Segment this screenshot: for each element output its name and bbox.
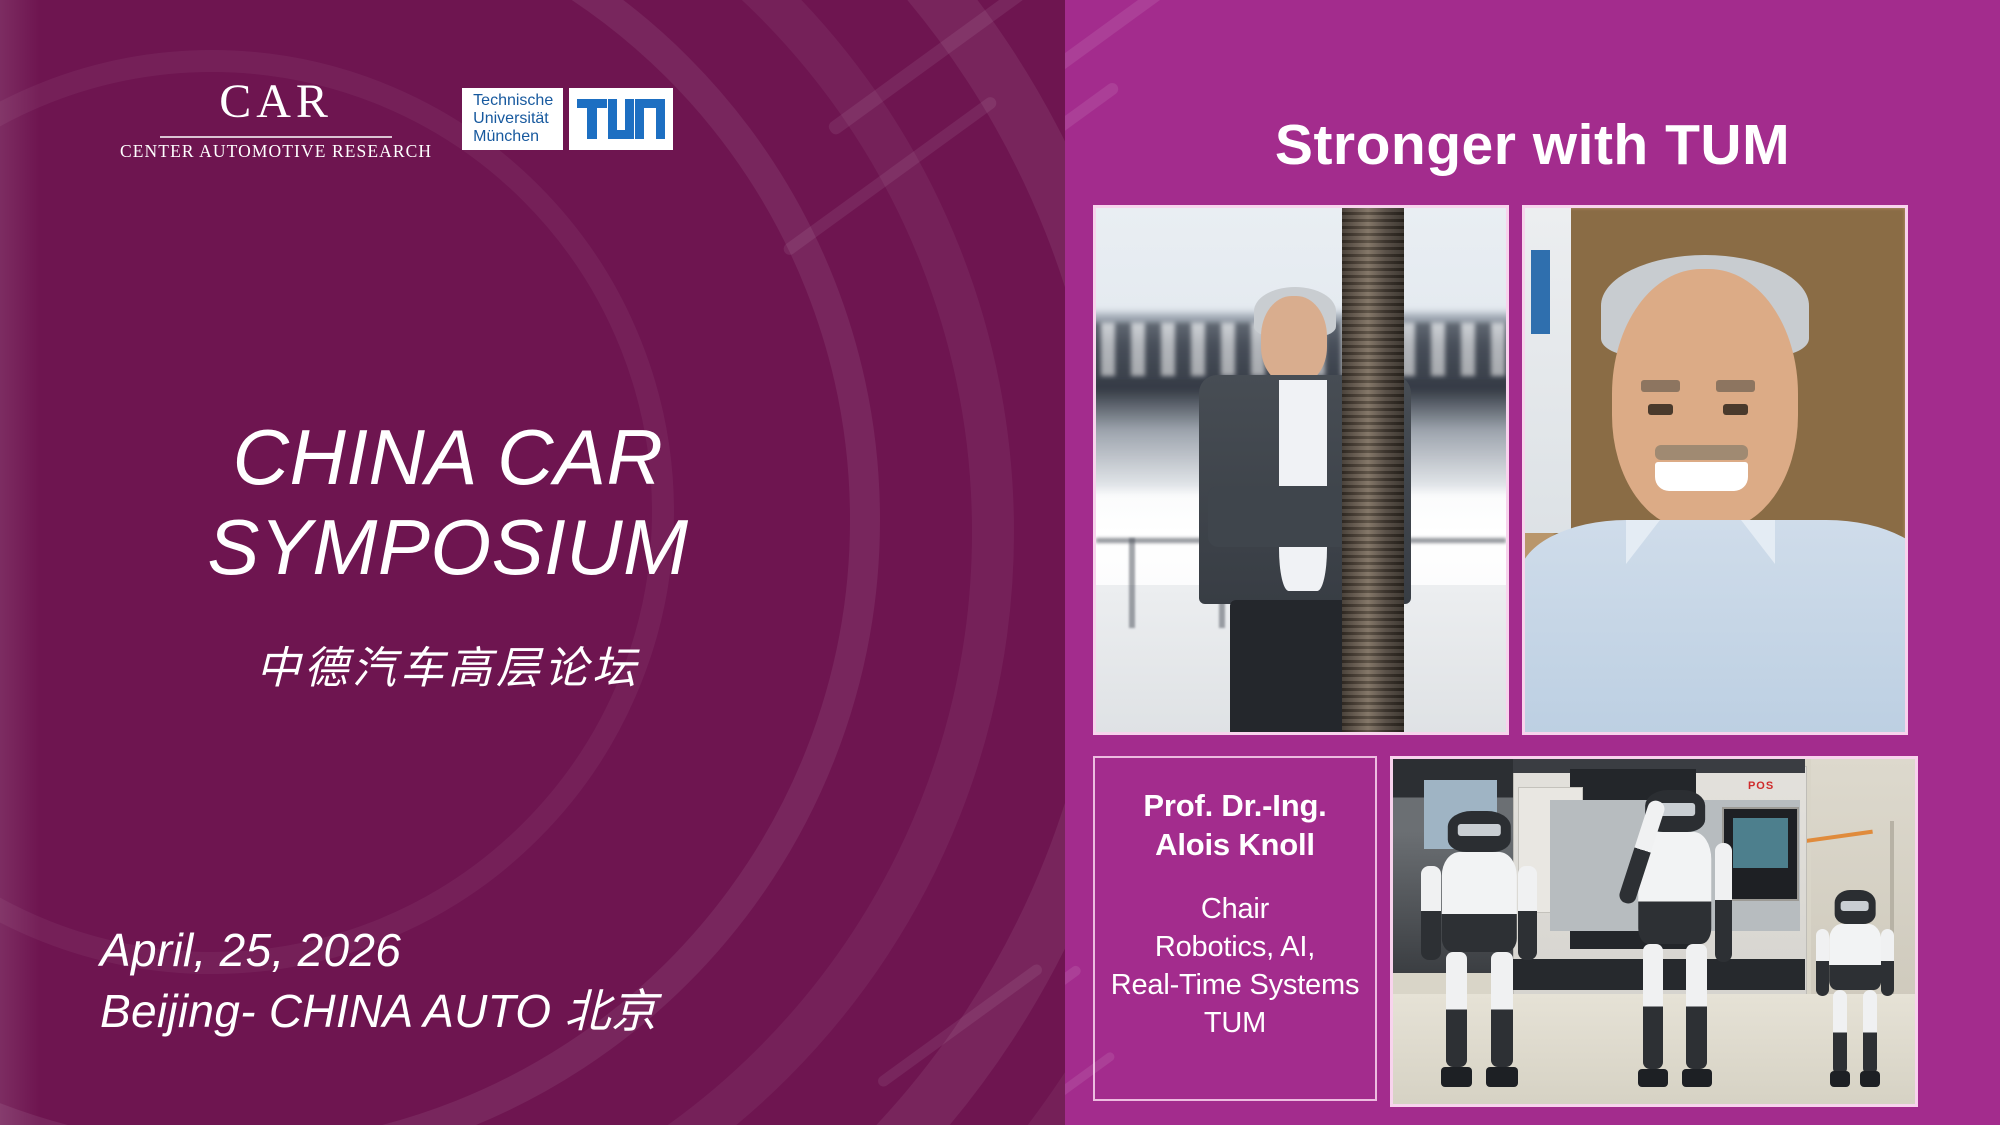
robot-arm-right bbox=[1518, 866, 1537, 960]
person-collar-right bbox=[1741, 520, 1775, 564]
speaker-name-line-1: Prof. Dr.-Ing. bbox=[1143, 786, 1326, 825]
tum-logo: Technische Universität München bbox=[462, 88, 673, 150]
robot-arm-right bbox=[1715, 843, 1732, 962]
tum-logo-wordmark: Technische Universität München bbox=[462, 88, 563, 150]
car-wordmark: CAR bbox=[219, 78, 333, 132]
car-logo-divider bbox=[160, 136, 392, 138]
speaker-info-card: Prof. Dr.-Ing. Alois Knoll Chair Robotic… bbox=[1093, 756, 1377, 1101]
photo-humanoid-robots-lab: POS bbox=[1390, 756, 1918, 1107]
speaker-role-line-3: Real-Time Systems bbox=[1111, 967, 1360, 1005]
person-smile bbox=[1655, 462, 1748, 491]
car-logo-subtitle: CENTER AUTOMOTIVE RESEARCH bbox=[120, 143, 432, 161]
person-eye-right bbox=[1723, 404, 1748, 415]
event-date: April, 25, 2026 bbox=[100, 920, 657, 981]
event-title-line-1: CHINA CAR bbox=[108, 412, 788, 502]
right-headline: Stronger with TUM bbox=[1065, 112, 2000, 178]
cnc-control-panel bbox=[1722, 807, 1799, 901]
person-collar-left bbox=[1626, 520, 1660, 564]
presentation-slide: CAR CENTER AUTOMOTIVE RESEARCH Technisch… bbox=[0, 0, 2000, 1125]
robot-leg-left bbox=[1446, 952, 1468, 1068]
person-head bbox=[1261, 296, 1327, 384]
speaker-role-line-2: Robotics, AI, bbox=[1111, 929, 1360, 967]
cnc-brand-label: POS bbox=[1748, 780, 1774, 792]
humanoid-robot-right bbox=[1816, 890, 1894, 1087]
decorative-streak-right-3 bbox=[1065, 964, 1083, 1066]
railing-post-left bbox=[1129, 538, 1135, 628]
robot-leg-right bbox=[1686, 944, 1707, 1069]
robot-head bbox=[1448, 811, 1510, 852]
car-logo: CAR CENTER AUTOMOTIVE RESEARCH bbox=[120, 78, 440, 161]
robot-leg-right bbox=[1863, 990, 1877, 1075]
humanoid-robot-center bbox=[1617, 790, 1732, 1087]
robot-foot-left bbox=[1441, 1067, 1472, 1086]
event-location: Beijing- CHINA AUTO 北京 bbox=[100, 981, 657, 1042]
cnc-screen bbox=[1733, 818, 1789, 868]
person-figure bbox=[1548, 250, 1905, 732]
person-moustache bbox=[1655, 445, 1748, 459]
robot-arm-left bbox=[1421, 866, 1440, 960]
speaker-role-line-1: Chair bbox=[1111, 891, 1360, 929]
event-details: April, 25, 2026 Beijing- CHINA AUTO 北京 bbox=[100, 920, 657, 1042]
robot-foot-left bbox=[1638, 1069, 1668, 1087]
speaker-name-line-2: Alois Knoll bbox=[1143, 825, 1326, 864]
tum-logo-line-2: Universität bbox=[473, 110, 553, 128]
event-title-line-2: SYMPOSIUM bbox=[108, 502, 788, 592]
tum-logo-line-1: Technische bbox=[473, 92, 553, 110]
robot-leg-left bbox=[1833, 990, 1847, 1075]
person-eyebrow-left bbox=[1641, 380, 1680, 392]
photo-knoll-outdoor bbox=[1093, 205, 1509, 735]
person-eye-left bbox=[1648, 404, 1673, 415]
person-shirt bbox=[1522, 520, 1908, 735]
tum-logo-mark bbox=[569, 88, 673, 150]
page-title: CHINA CAR SYMPOSIUM bbox=[108, 412, 788, 593]
speaker-role-line-4: TUM bbox=[1111, 1005, 1360, 1043]
tum-logo-line-3: München bbox=[473, 128, 553, 146]
robot-arm-left bbox=[1816, 929, 1829, 996]
decorative-edge-highlight bbox=[0, 0, 40, 1125]
humanoid-robot-left bbox=[1419, 811, 1539, 1087]
speaker-role: Chair Robotics, AI, Real-Time Systems TU… bbox=[1111, 891, 1360, 1043]
robot-leg-left bbox=[1643, 944, 1664, 1069]
robot-torso bbox=[1442, 852, 1516, 951]
robot-visor bbox=[1841, 901, 1869, 911]
speaker-name: Prof. Dr.-Ing. Alois Knoll bbox=[1143, 786, 1326, 865]
logo-bar: CAR CENTER AUTOMOTIVE RESEARCH Technisch… bbox=[120, 78, 673, 161]
person-eyebrow-right bbox=[1716, 380, 1755, 392]
robot-leg-right bbox=[1491, 952, 1513, 1068]
event-title-chinese: 中德汽车高层论坛 bbox=[108, 632, 788, 696]
robot-foot-left bbox=[1830, 1071, 1850, 1087]
robot-head bbox=[1835, 890, 1876, 923]
robot-torso bbox=[1829, 924, 1881, 991]
robot-visor bbox=[1458, 824, 1500, 836]
robot-foot-right bbox=[1860, 1071, 1880, 1087]
robot-foot-right bbox=[1682, 1069, 1712, 1087]
robot-foot-right bbox=[1486, 1067, 1517, 1086]
photo-knoll-smiling bbox=[1522, 205, 1908, 735]
robot-arm-right bbox=[1881, 929, 1894, 996]
tree-trunk bbox=[1342, 205, 1404, 735]
